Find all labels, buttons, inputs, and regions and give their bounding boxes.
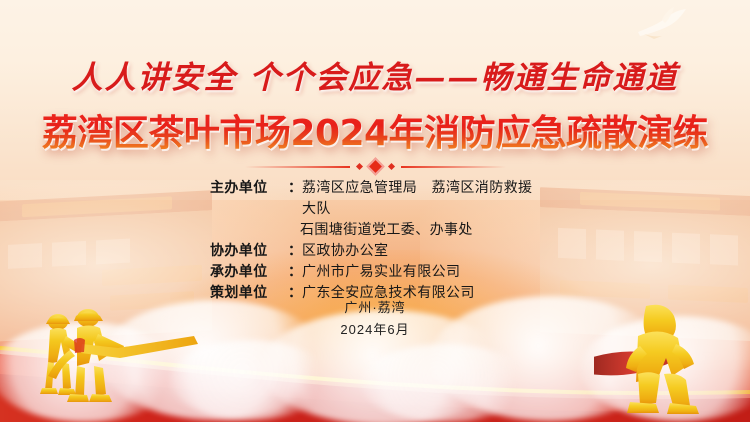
organizer-row: 协办单位 ： 区政协办公室 <box>210 240 540 261</box>
organizer-row: 承办单位 ： 广州市广易实业有限公司 <box>210 261 540 282</box>
organizer-label <box>210 219 288 240</box>
footer-location: 广州·荔湾 <box>0 297 750 319</box>
divider-line-right <box>401 166 506 168</box>
organizer-row: 石围塘街道党工委、办事处 <box>210 219 540 240</box>
organizer-label: 主办单位 <box>210 177 288 219</box>
divider-line-left <box>245 166 350 168</box>
footer-date: 2024年6月 <box>0 319 750 341</box>
organizer-colon: ： <box>288 240 302 261</box>
divider-dot-left <box>355 163 362 170</box>
organizer-value: 广州市广易实业有限公司 <box>302 261 540 282</box>
divider-dot-right <box>387 163 394 170</box>
page-title: 荔湾区茶叶市场2024年消防应急疏散演练 <box>0 104 750 156</box>
organizer-colon: ： <box>288 177 302 219</box>
poster-headline: 人人讲安全 个个会应急——畅通生命通道 <box>0 52 750 97</box>
diamond-ornament-icon <box>0 160 750 173</box>
organizer-label: 承办单位 <box>210 261 288 282</box>
divider-gem <box>366 157 384 175</box>
organizer-value: 区政协办公室 <box>302 240 540 261</box>
organizer-value: 荔湾区应急管理局 荔湾区消防救援大队 <box>302 177 540 219</box>
organizer-colon <box>288 219 300 240</box>
dove-icon <box>632 6 692 44</box>
organizer-value: 石围塘街道党工委、办事处 <box>300 219 540 240</box>
organizer-list: 主办单位 ： 荔湾区应急管理局 荔湾区消防救援大队 石围塘街道党工委、办事处 协… <box>0 177 750 303</box>
organizer-row: 主办单位 ： 荔湾区应急管理局 荔湾区消防救援大队 <box>210 177 540 219</box>
organizer-colon: ： <box>288 261 302 282</box>
poster-canvas: 人人讲安全 个个会应急——畅通生命通道 荔湾区茶叶市场2024年消防应急疏散演练… <box>0 0 750 422</box>
organizer-label: 协办单位 <box>210 240 288 261</box>
poster-footer: 广州·荔湾 2024年6月 <box>0 297 750 341</box>
